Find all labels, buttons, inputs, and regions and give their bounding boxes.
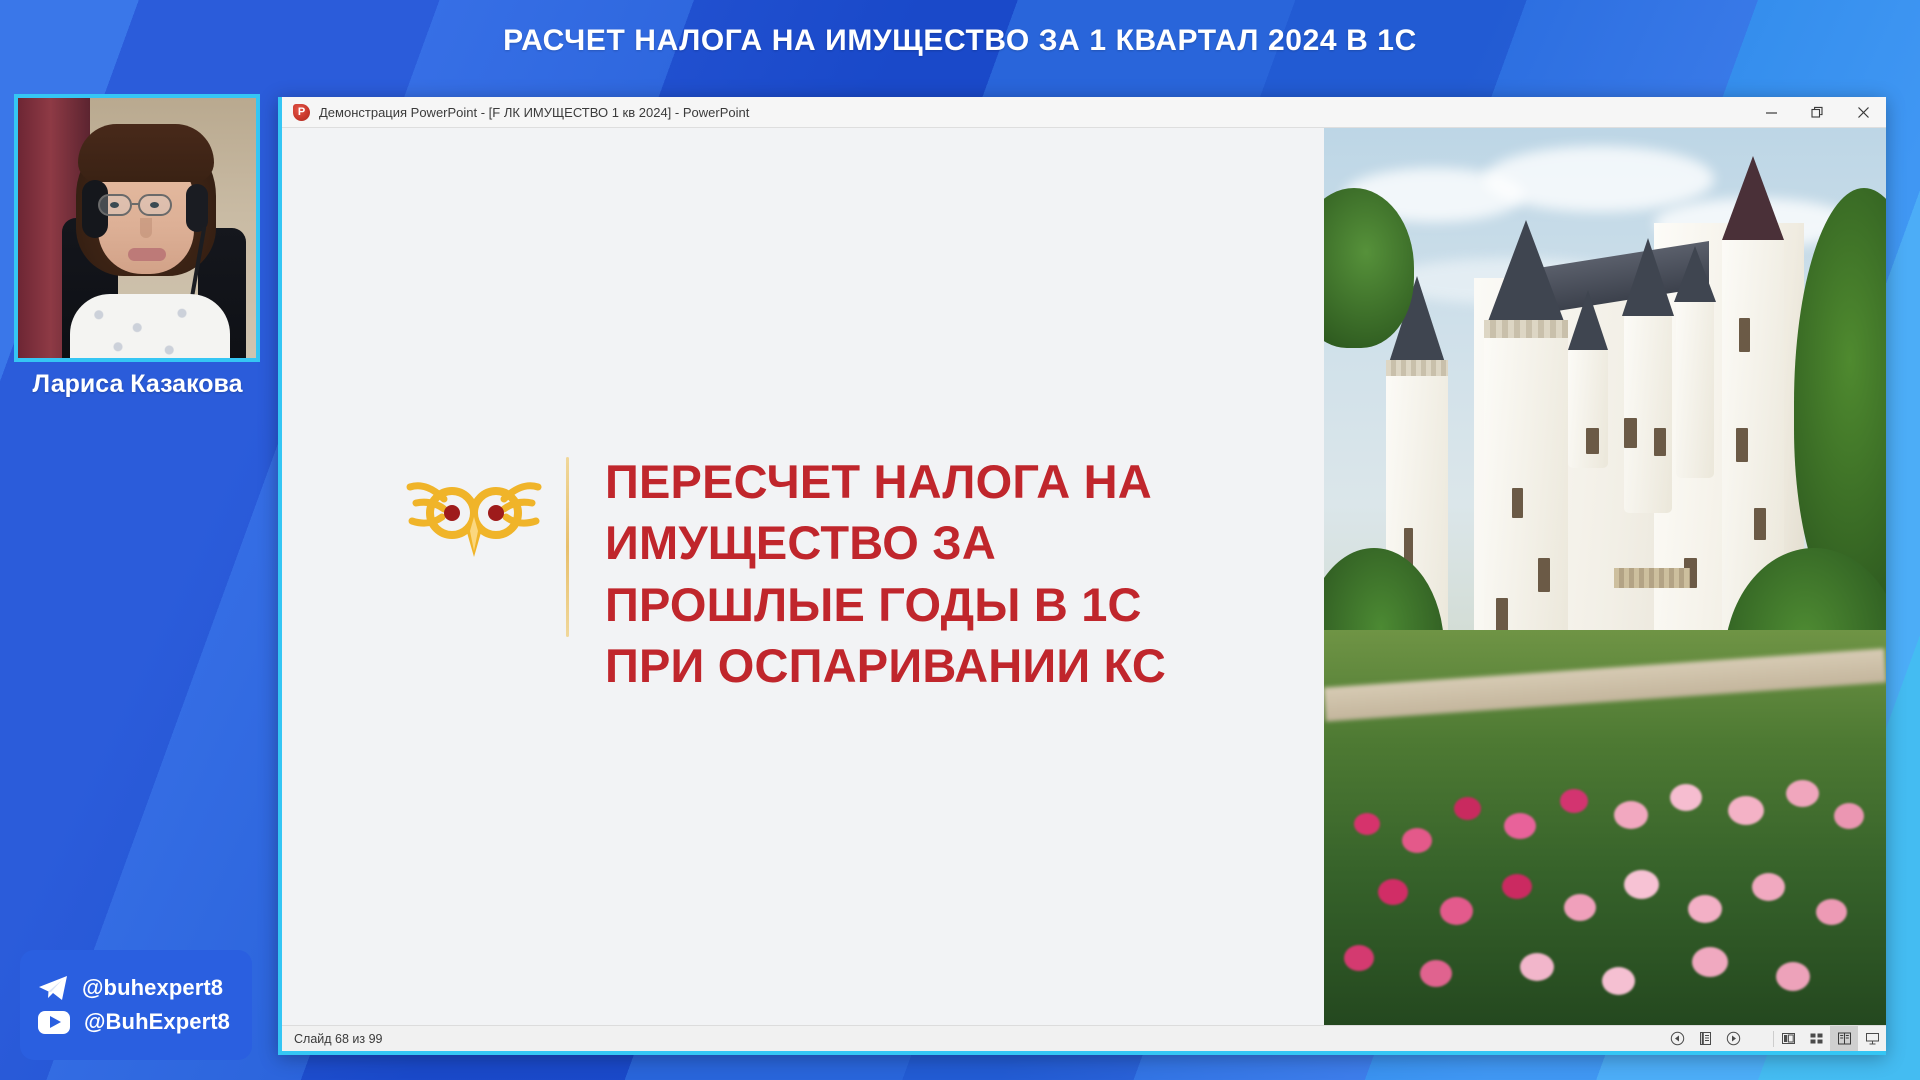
notes-button[interactable] — [1691, 1026, 1719, 1051]
slide-sorter-icon — [1809, 1031, 1824, 1046]
powerpoint-window: Демонстрация PowerPoint - [F ЛК ИМУЩЕСТВ… — [278, 97, 1886, 1055]
slide-title: ПЕРЕСЧЕТ НАЛОГА НА ИМУЩЕСТВО ЗА ПРОШЛЫЕ … — [605, 451, 1166, 695]
powerpoint-icon — [293, 104, 310, 121]
social-link-telegram[interactable]: @buhexpert8 — [38, 975, 252, 1001]
youtube-icon — [38, 1011, 70, 1034]
powerpoint-titlebar[interactable]: Демонстрация PowerPoint - [F ЛК ИМУЩЕСТВ… — [282, 97, 1886, 128]
castle-garden-photo — [1324, 128, 1886, 1025]
slide-counter: Слайд 68 из 99 — [294, 1032, 383, 1046]
social-links-panel: @buhexpert8 @BuhExpert8 — [20, 950, 252, 1060]
powerpoint-statusbar: Слайд 68 из 99 — [282, 1025, 1886, 1051]
restore-button[interactable] — [1794, 97, 1840, 127]
reading-view-button[interactable] — [1830, 1026, 1858, 1051]
statusbar-buttons — [1663, 1026, 1886, 1051]
previous-slide-button[interactable] — [1663, 1026, 1691, 1051]
slideshow-icon — [1865, 1031, 1880, 1046]
telegram-icon — [38, 975, 68, 1001]
window-controls — [1748, 97, 1886, 127]
slide-canvas[interactable]: ПЕРЕСЧЕТ НАЛОГА НА ИМУЩЕСТВО ЗА ПРОШЛЫЕ … — [282, 128, 1324, 1025]
social-link-youtube[interactable]: @BuhExpert8 — [38, 1009, 252, 1035]
next-slide-button[interactable] — [1719, 1026, 1747, 1051]
slide-divider — [566, 457, 569, 637]
page-title: РАСЧЕТ НАЛОГА НА ИМУЩЕСТВО ЗА 1 КВАРТАЛ … — [260, 18, 1660, 64]
slide-area: ПЕРЕСЧЕТ НАЛОГА НА ИМУЩЕСТВО ЗА ПРОШЛЫЕ … — [282, 128, 1886, 1025]
previous-arrow-icon — [1670, 1031, 1685, 1046]
minimize-button[interactable] — [1748, 97, 1794, 127]
youtube-handle: @BuhExpert8 — [84, 1009, 230, 1035]
presenter-webcam — [14, 94, 260, 362]
reading-view-icon — [1837, 1031, 1852, 1046]
telegram-handle: @buhexpert8 — [82, 975, 223, 1001]
next-arrow-icon — [1726, 1031, 1741, 1046]
slideshow-button[interactable] — [1858, 1026, 1886, 1051]
presenter-name: Лариса Казакова — [0, 370, 275, 400]
slide-sorter-view-button[interactable] — [1802, 1026, 1830, 1051]
notes-icon — [1698, 1031, 1713, 1046]
window-title: Демонстрация PowerPoint - [F ЛК ИМУЩЕСТВ… — [319, 105, 749, 120]
sidebar: Лариса Казакова @buhexpert8 @BuhExpert8 — [0, 0, 275, 1080]
normal-view-button[interactable] — [1774, 1026, 1802, 1051]
close-button[interactable] — [1840, 97, 1886, 127]
normal-view-icon — [1781, 1031, 1796, 1046]
owl-logo — [404, 469, 544, 561]
